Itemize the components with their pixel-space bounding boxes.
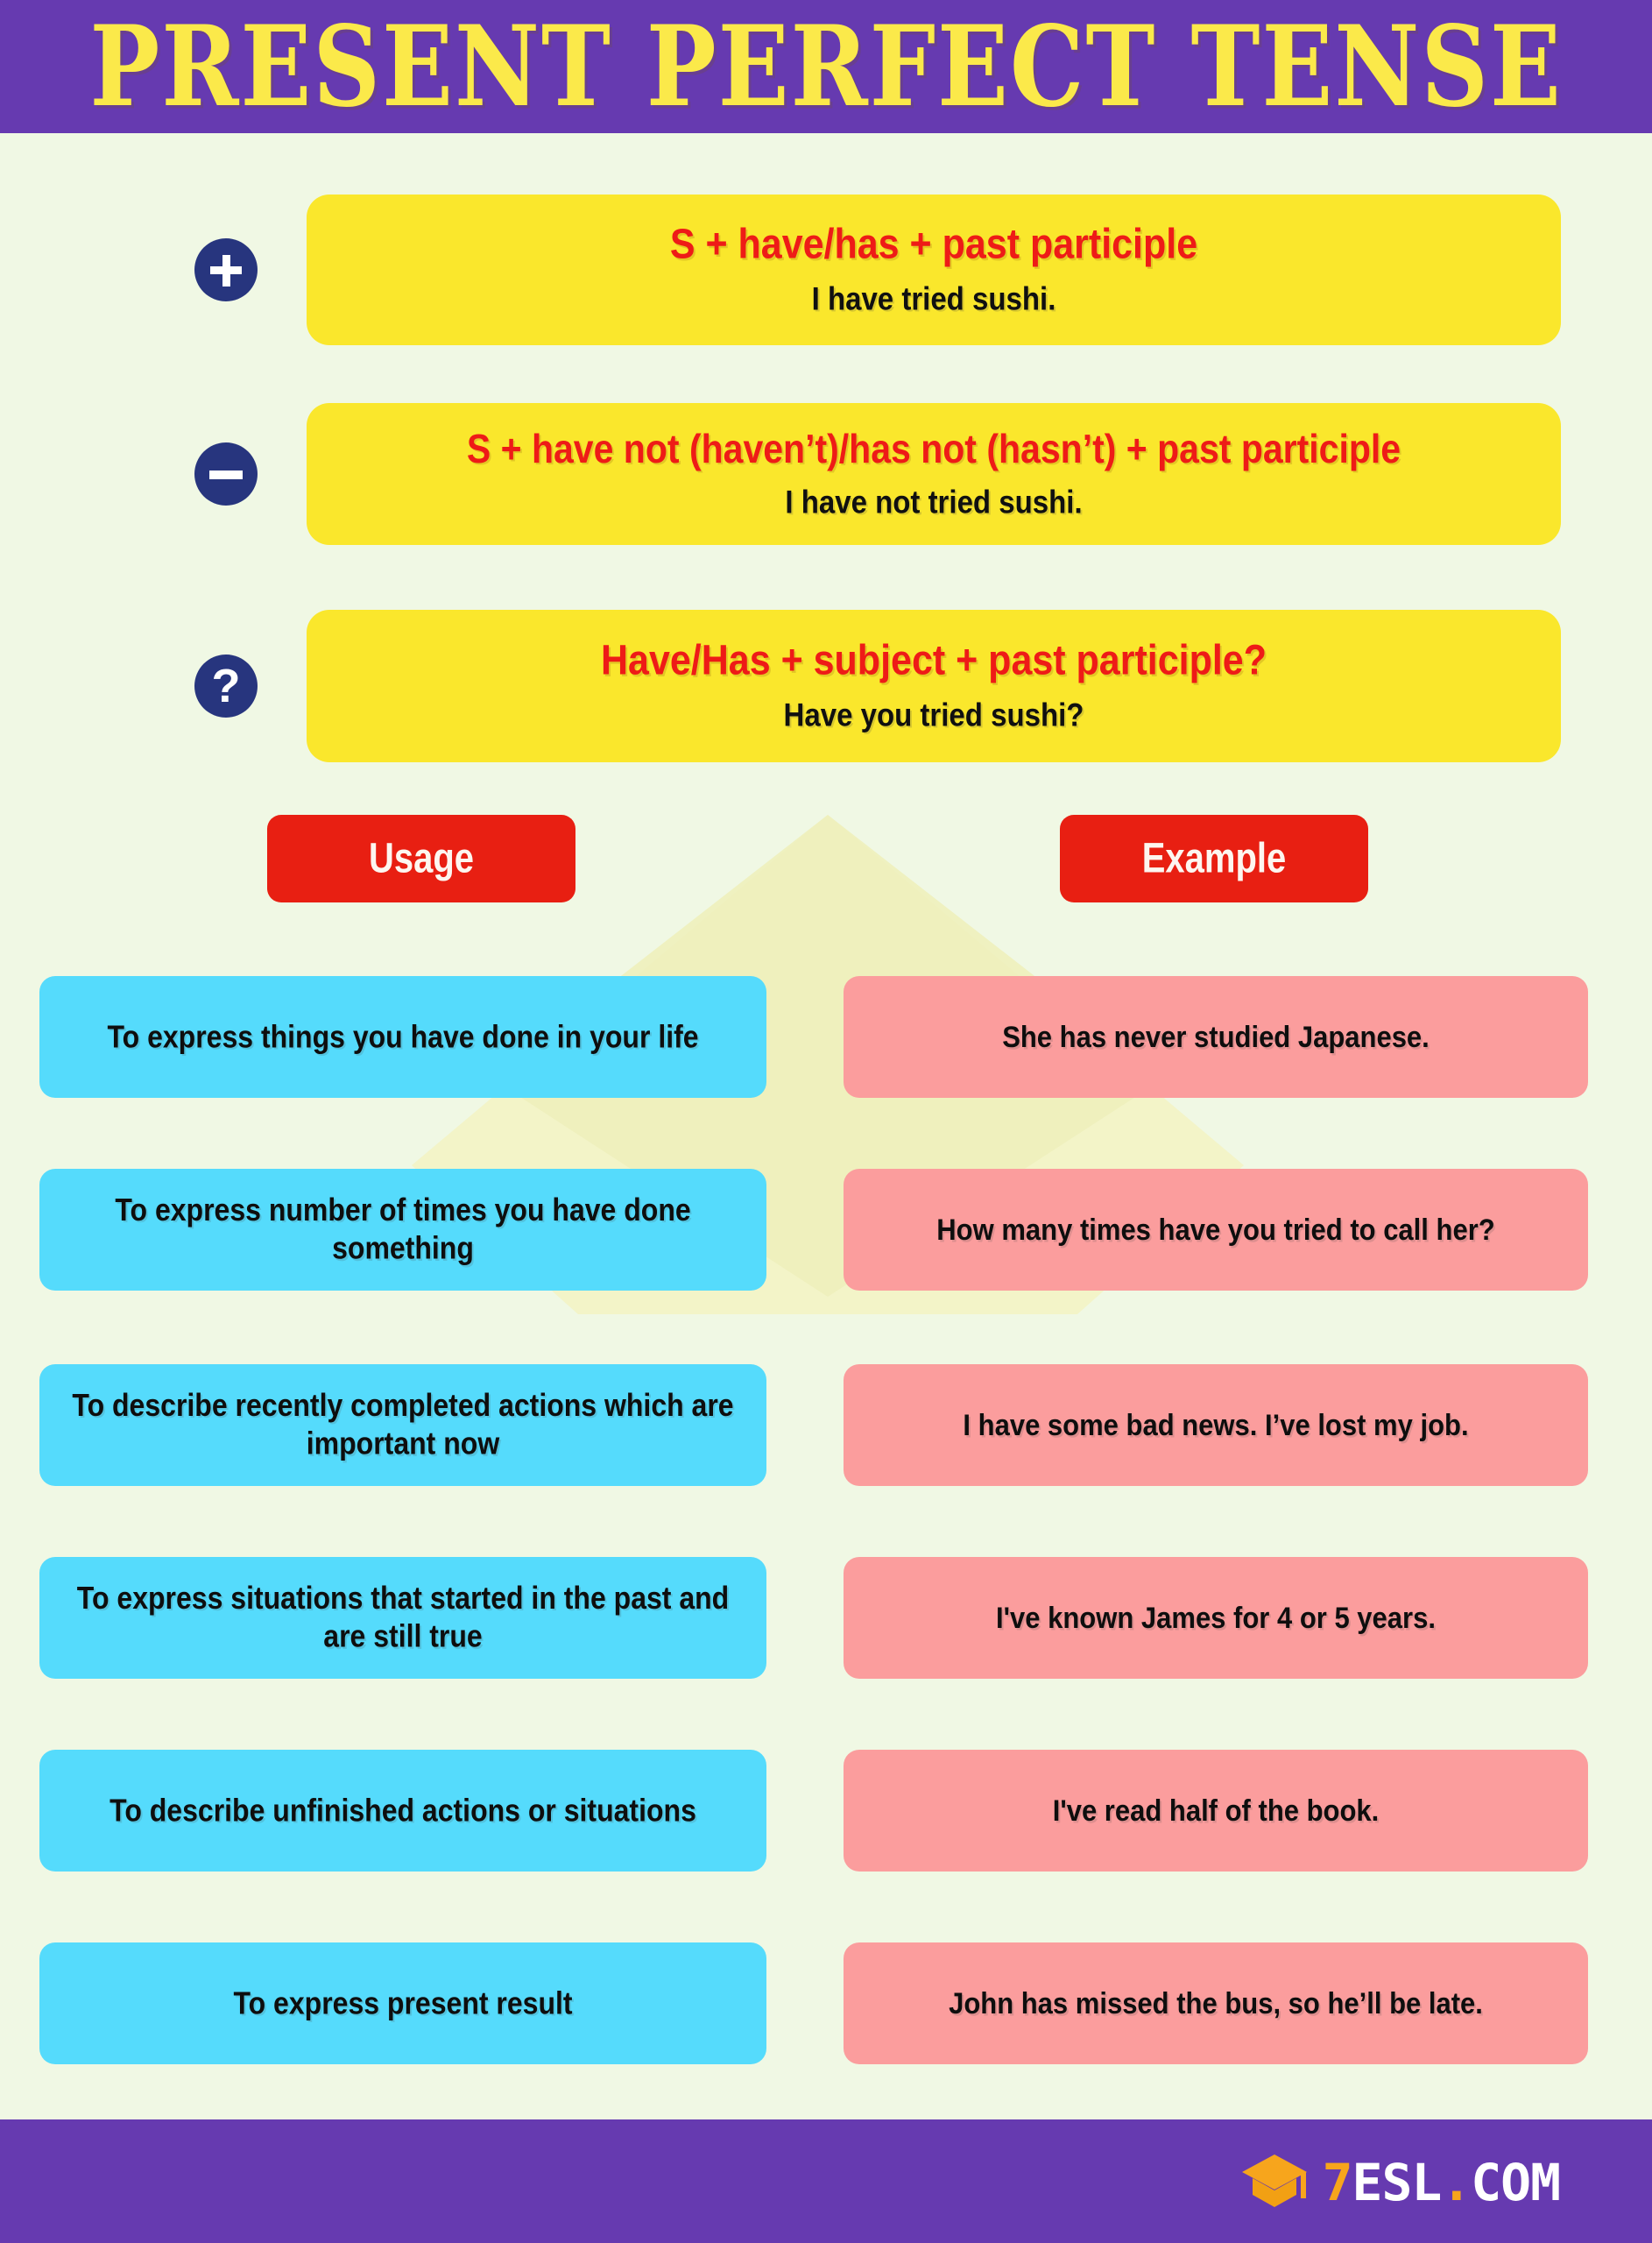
column-header-usage-label: Usage xyxy=(369,838,474,880)
usage-cell[interactable]: To describe unfinished actions or situat… xyxy=(39,1750,766,1872)
formula-example-question: Have you tried sushi? xyxy=(784,698,1084,732)
logo-seven: 7 xyxy=(1323,2153,1352,2212)
infographic-page: PRESENT PERFECT TENSE S + have/has + pas… xyxy=(0,0,1652,2243)
formula-structure-negative: S + have not (haven’t)/has not (hasn’t) … xyxy=(467,428,1401,471)
usage-cell[interactable]: To express situations that started in th… xyxy=(39,1557,766,1679)
formula-example-negative: I have not tried sushi. xyxy=(785,485,1082,520)
formula-box-negative: S + have not (haven’t)/has not (hasn’t) … xyxy=(307,403,1561,545)
column-header-example-label: Example xyxy=(1142,838,1287,880)
usage-cell[interactable]: To describe recently completed actions w… xyxy=(39,1364,766,1486)
formula-box-question: Have/Has + subject + past participle? Ha… xyxy=(307,610,1561,762)
page-footer: 7ESL.COM xyxy=(0,2119,1652,2243)
usage-cell-text: To express present result xyxy=(233,1985,572,2023)
question-mark-glyph: ? xyxy=(194,655,258,718)
usage-cell[interactable]: To express present result xyxy=(39,1942,766,2064)
logo-wordmark: 7ESL.COM xyxy=(1323,2157,1560,2208)
column-header-usage[interactable]: Usage xyxy=(267,815,575,902)
site-logo[interactable]: 7ESL.COM xyxy=(1240,2151,1560,2214)
formula-structure-question: Have/Has + subject + past participle? xyxy=(601,639,1267,683)
column-header-example[interactable]: Example xyxy=(1060,815,1368,902)
usage-cell-text: To express situations that started in th… xyxy=(62,1580,744,1656)
usage-cell-text: To express number of times you have done… xyxy=(62,1192,744,1268)
formula-row-positive: S + have/has + past participle I have tr… xyxy=(194,195,1561,345)
logo-dot: . xyxy=(1441,2153,1471,2212)
table-row: To describe unfinished actions or situat… xyxy=(0,1750,1652,1872)
logo-com: COM xyxy=(1471,2153,1560,2212)
plus-badge-icon xyxy=(194,238,258,301)
usage-cell-text: To describe unfinished actions or situat… xyxy=(109,1792,696,1830)
formula-row-question: ? Have/Has + subject + past participle? … xyxy=(194,610,1561,762)
graduation-cap-icon xyxy=(1240,2151,1309,2214)
example-cell[interactable]: I've read half of the book. xyxy=(844,1750,1588,1872)
formula-box-positive: S + have/has + past participle I have tr… xyxy=(307,195,1561,345)
example-cell-text: I have some bad news. I’ve lost my job. xyxy=(963,1406,1468,1443)
table-row: To express present result John has misse… xyxy=(0,1942,1652,2064)
example-cell[interactable]: I have some bad news. I’ve lost my job. xyxy=(844,1364,1588,1486)
table-row: To describe recently completed actions w… xyxy=(0,1364,1652,1486)
example-cell[interactable]: She has never studied Japanese. xyxy=(844,976,1588,1098)
formula-example-positive: I have tried sushi. xyxy=(812,282,1056,316)
example-cell[interactable]: How many times have you tried to call he… xyxy=(844,1169,1588,1291)
example-cell-text: I've read half of the book. xyxy=(1053,1792,1380,1829)
example-cell-text: She has never studied Japanese. xyxy=(1002,1018,1430,1055)
example-cell-text: John has missed the bus, so he’ll be lat… xyxy=(949,1985,1483,2021)
table-row: To express number of times you have done… xyxy=(0,1169,1652,1291)
formula-structure-positive: S + have/has + past participle xyxy=(670,223,1197,267)
usage-cell-text: To describe recently completed actions w… xyxy=(62,1387,744,1463)
table-row: To express things you have done in your … xyxy=(0,976,1652,1098)
formula-row-negative: S + have not (haven’t)/has not (hasn’t) … xyxy=(194,403,1561,545)
logo-esl: ESL xyxy=(1352,2153,1442,2212)
usage-cell[interactable]: To express number of times you have done… xyxy=(39,1169,766,1291)
example-cell[interactable]: John has missed the bus, so he’ll be lat… xyxy=(844,1942,1588,2064)
page-title: PRESENT PERFECT TENSE xyxy=(89,11,1562,123)
table-row: To express situations that started in th… xyxy=(0,1557,1652,1679)
usage-cell-text: To express things you have done in your … xyxy=(107,1018,698,1057)
example-cell-text: How many times have you tried to call he… xyxy=(936,1211,1494,1248)
example-cell[interactable]: I've known James for 4 or 5 years. xyxy=(844,1557,1588,1679)
page-header: PRESENT PERFECT TENSE xyxy=(0,0,1652,133)
example-cell-text: I've known James for 4 or 5 years. xyxy=(996,1599,1436,1636)
question-badge-icon: ? xyxy=(194,655,258,718)
usage-cell[interactable]: To express things you have done in your … xyxy=(39,976,766,1098)
minus-badge-icon xyxy=(194,442,258,506)
